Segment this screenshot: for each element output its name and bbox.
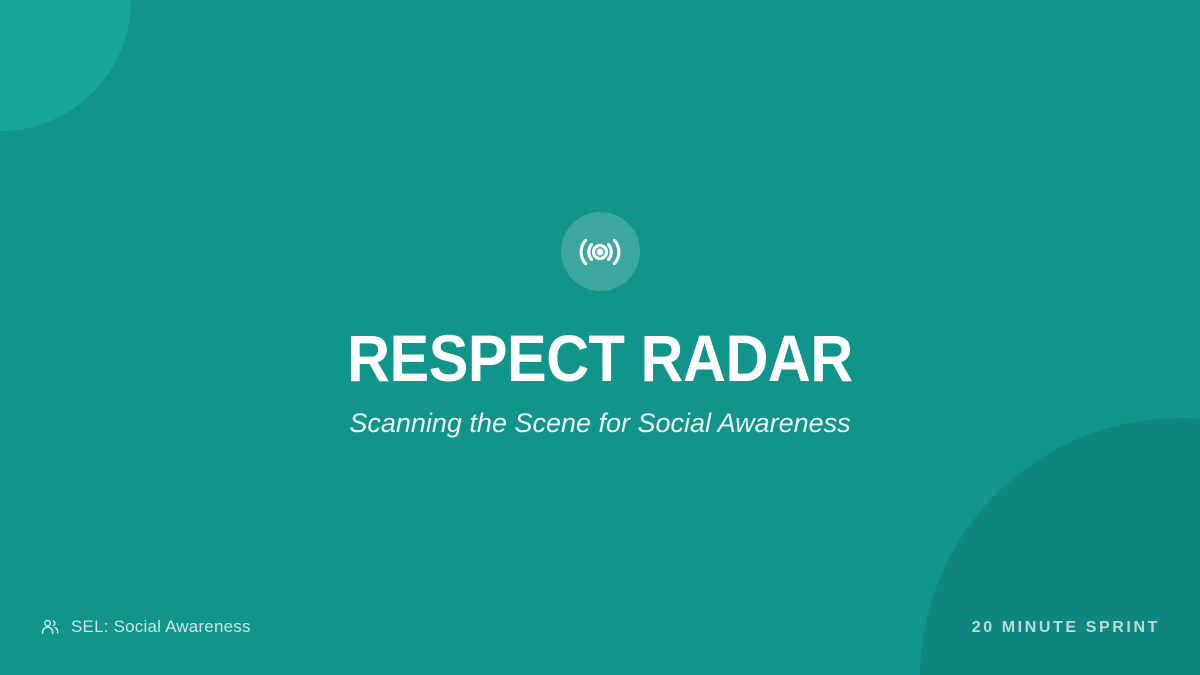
users-icon [40,617,60,637]
hero-icon-badge [561,212,640,291]
broadcast-signal-icon [578,230,622,274]
footer-left-label: SEL: Social Awareness [71,617,251,637]
footer-right-label: 20 MINUTE SPRINT [972,619,1160,637]
slide-content: RESPECT RADAR Scanning the Scene for Soc… [0,0,1200,675]
footer-left: SEL: Social Awareness [40,617,251,637]
title-slide: RESPECT RADAR Scanning the Scene for Soc… [0,0,1200,675]
page-title: RESPECT RADAR [347,325,853,392]
page-subtitle: Scanning the Scene for Social Awareness [349,407,850,441]
